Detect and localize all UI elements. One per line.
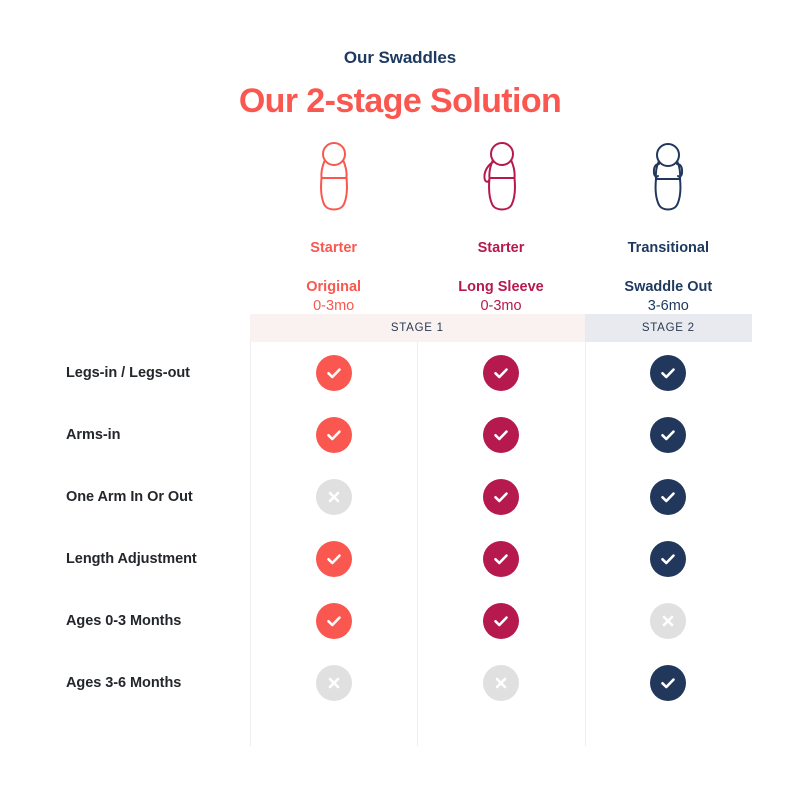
stage-header-row: STAGE 1 STAGE 2 bbox=[250, 314, 752, 342]
check-icon bbox=[316, 603, 352, 639]
table-cell bbox=[250, 665, 417, 701]
product-name-line2: Original bbox=[250, 279, 417, 296]
check-icon bbox=[650, 479, 686, 515]
comparison-page: Our Swaddles Our 2-stage Solution Starte… bbox=[0, 0, 800, 800]
table-cell bbox=[585, 541, 752, 577]
table-row: Ages 3-6 Months bbox=[0, 652, 800, 714]
product-name-line1: Transitional bbox=[585, 240, 752, 257]
product-column-transitional-swaddle-out[interactable]: Transitional Swaddle Out 3-6mo bbox=[585, 140, 752, 315]
check-icon bbox=[316, 417, 352, 453]
table-cell bbox=[417, 603, 584, 639]
check-icon bbox=[316, 355, 352, 391]
table-cell bbox=[585, 355, 752, 391]
product-column-starter-original[interactable]: Starter Original 0-3mo bbox=[250, 140, 417, 315]
row-label: Ages 0-3 Months bbox=[0, 613, 250, 629]
table-cell bbox=[250, 541, 417, 577]
product-name-line1: Starter bbox=[250, 240, 417, 257]
product-age-range: 0-3mo bbox=[250, 298, 417, 315]
table-cell bbox=[585, 417, 752, 453]
row-label: Arms-in bbox=[0, 427, 250, 443]
table-cell bbox=[250, 603, 417, 639]
check-icon bbox=[483, 417, 519, 453]
table-cell bbox=[417, 665, 584, 701]
check-icon bbox=[316, 541, 352, 577]
table-row: Ages 0-3 Months bbox=[0, 590, 800, 652]
check-icon bbox=[650, 355, 686, 391]
table-row: Legs-in / Legs-out bbox=[0, 342, 800, 404]
page-title: Our 2-stage Solution bbox=[0, 82, 800, 121]
stage-header-2: STAGE 2 bbox=[585, 314, 752, 342]
row-label: Length Adjustment bbox=[0, 551, 250, 567]
page-header: Our Swaddles Our 2-stage Solution bbox=[0, 0, 800, 121]
product-column-headers: Starter Original 0-3mo Starter Long Slee… bbox=[250, 140, 752, 315]
product-age-range: 3-6mo bbox=[585, 298, 752, 315]
table-cell bbox=[585, 665, 752, 701]
check-icon bbox=[483, 541, 519, 577]
product-name-line2: Long Sleeve bbox=[417, 279, 584, 296]
product-name-line1: Starter bbox=[417, 240, 584, 257]
table-cell bbox=[585, 479, 752, 515]
product-column-starter-long-sleeve[interactable]: Starter Long Sleeve 0-3mo bbox=[417, 140, 584, 315]
table-cell bbox=[417, 355, 584, 391]
row-label: One Arm In Or Out bbox=[0, 489, 250, 505]
check-icon bbox=[483, 355, 519, 391]
check-icon bbox=[483, 479, 519, 515]
cross-icon bbox=[650, 603, 686, 639]
stage-header-1: STAGE 1 bbox=[250, 314, 585, 342]
table-cell bbox=[250, 355, 417, 391]
table-cell bbox=[585, 603, 752, 639]
cross-icon bbox=[316, 479, 352, 515]
check-icon bbox=[650, 541, 686, 577]
table-cell bbox=[250, 417, 417, 453]
check-icon bbox=[650, 665, 686, 701]
table-row: One Arm In Or Out bbox=[0, 466, 800, 528]
cross-icon bbox=[316, 665, 352, 701]
comparison-table-body: Legs-in / Legs-out bbox=[0, 342, 800, 714]
table-cell bbox=[417, 541, 584, 577]
product-age-range: 0-3mo bbox=[417, 298, 584, 315]
row-label: Legs-in / Legs-out bbox=[0, 365, 250, 381]
swaddle-arms-in-icon bbox=[250, 140, 417, 218]
table-row: Length Adjustment bbox=[0, 528, 800, 590]
table-cell bbox=[417, 417, 584, 453]
swaddle-arms-out-icon bbox=[585, 140, 752, 218]
product-name-line2: Swaddle Out bbox=[585, 279, 752, 296]
table-cell bbox=[417, 479, 584, 515]
check-icon bbox=[483, 603, 519, 639]
table-cell bbox=[250, 479, 417, 515]
row-label: Ages 3-6 Months bbox=[0, 675, 250, 691]
cross-icon bbox=[483, 665, 519, 701]
table-row: Arms-in bbox=[0, 404, 800, 466]
page-eyebrow: Our Swaddles bbox=[0, 48, 800, 68]
swaddle-long-sleeve-icon bbox=[417, 140, 584, 218]
check-icon bbox=[650, 417, 686, 453]
